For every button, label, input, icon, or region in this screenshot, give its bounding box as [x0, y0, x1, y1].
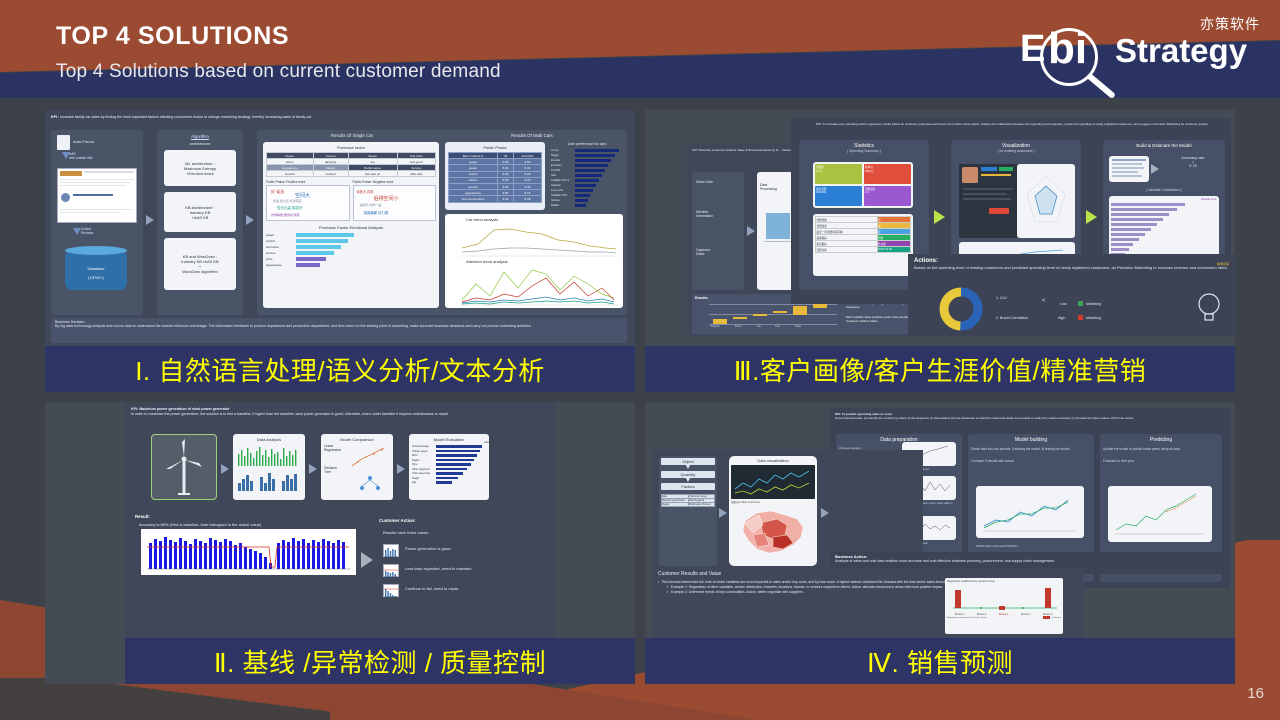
quadrant-panel-3[interactable]: KPI: Maximize Customer Lifetime Value & …: [645, 110, 1235, 392]
quadrant-2-content: KPI: Maximum power generation of wind po…: [45, 402, 635, 638]
q4-flow-3: Factors: [661, 483, 715, 490]
table-row: fuel consumption6.126.39: [449, 196, 542, 202]
q3-back-step-3: Captured Sales: [696, 248, 710, 256]
mini-chart-icon-2: [383, 564, 399, 577]
q1-emotional-title: Purchase Factor Emotional Analysis: [266, 225, 436, 230]
q2-model-comparison-card: Model Comparison Linear Regression Decis…: [321, 434, 393, 500]
q2-result-title: Result:: [135, 514, 545, 519]
emotional-bar-chart: power control tech drive service price a…: [266, 232, 436, 268]
quadrant-panel-4[interactable]: KPI: To predict upcoming sales or costs …: [645, 402, 1235, 684]
purchase-factor-table: PowerControlSpaceTest drive fiercedampin…: [266, 152, 436, 177]
q4-left-table: SaleCustomer Group Material region/brand…: [661, 494, 715, 507]
mini-chart-icon-1: [383, 544, 399, 557]
q3-step2-sub: ( for existing customers ): [951, 149, 1081, 153]
q2-result-block: Result: Accuracy is 86% (Red is baseline…: [133, 512, 547, 624]
q4-ba-text: Analysis of sales and cost data enables …: [835, 559, 1225, 563]
q2-kpi-text: In order to maximize the power generatio…: [131, 412, 449, 416]
quadrant-2-label: Ⅱ. 基线 /异常检测 / 质量控制: [125, 638, 635, 684]
q4-stage3-title: Predicting: [1103, 437, 1219, 443]
q2-kpi-prefix: KPI:: [131, 407, 138, 411]
arrow-down-icon-2: [73, 228, 81, 235]
q3-legend-1: 1. CLV: [996, 296, 1007, 300]
q1-db-size: (157W+): [65, 275, 127, 280]
arrow-right-icon-8: [821, 508, 829, 518]
q1-algo-item-3: KB and Word2vec : Industry KB+AAS KB + W…: [181, 254, 218, 274]
arrow-right-icon-6: [397, 464, 405, 474]
q4-s2-metric1: MAPE=(|Error/Actual|*100%)/N: [976, 544, 1018, 548]
q3-step3-sub: ( Variable Contribution ): [1103, 188, 1225, 192]
q1-algo-item-2: KB architecture : Industry KB +AAS KB: [185, 205, 215, 220]
q2-model-evaluation-card: Model Evaluation Annual average Turbine …: [409, 434, 489, 500]
q1-purchase-factor-title: Purchase factor: [266, 145, 436, 150]
logo-letters-bi: bi: [1048, 24, 1087, 74]
q4-reg-caption: Regression coefficients of Generic Group: [947, 617, 987, 619]
q1-multi-title: Results Of Multi Cars: [447, 133, 617, 138]
wordcloud-negative: 噪音大 异响 后排空间小 油耗高 内饰一般 减震偏硬 动力弱: [353, 185, 437, 221]
q1-emo-label-1: power: [266, 233, 274, 237]
forum-screenshot: [57, 168, 137, 223]
q2-action-2: Less than expected, need to maintain.: [405, 566, 473, 571]
q2-kpi-title: Maximum power generation of wind power g…: [139, 407, 229, 411]
q2-action-title: Customer Action:: [379, 518, 416, 523]
q4-s3-l1: Update the model to predict future years…: [1103, 447, 1219, 451]
trend-charts: Car trend analysis Attention trend analy…: [445, 214, 623, 308]
kpi-tile-2: 客单价2840元: [864, 164, 911, 184]
q3-legend-2: 2. Brand Correlation: [996, 316, 1028, 320]
q4-stage2-title: Model building: [971, 437, 1091, 443]
kpi-tile-4: 消费频次2.4: [864, 186, 911, 206]
lightbulb-icon: [1189, 288, 1229, 328]
q1-praise-neg-title: Public Praise: Negative word: [353, 180, 437, 184]
arrow-right-big-icon: [361, 552, 373, 568]
q4-dataviz-card: Data visualization 销量分布 Sales by Provinc…: [729, 456, 817, 566]
q1-db-name: Database: [65, 266, 127, 271]
arrow-right-icon-5: [309, 464, 317, 474]
q1-emo-label-5: price: [266, 257, 273, 261]
arrow-right-green-icon-1: [934, 210, 945, 224]
q4-cv-b3: Example 2: Determine trends of key commo…: [671, 590, 963, 595]
china-map: [731, 505, 815, 561]
q3-step3-title: Build & Estimate the Model: [1103, 143, 1225, 148]
quadrant-3-content: KPI: Maximize Customer Lifetime Value & …: [645, 110, 1235, 346]
q1-emo-label-4: service: [266, 251, 276, 255]
svg-text:Bucket 4: Bucket 4: [1021, 613, 1031, 616]
q4-reg-legend: coefficient: [1051, 617, 1061, 619]
car-trend-chart: [448, 222, 620, 258]
q4-kpi-text: Given historical data, (a) identify the …: [835, 416, 1134, 420]
public-praise-table: Benz Classic-SV8Audi A6L space6.656.80 p…: [448, 152, 542, 203]
table-row: smoothcomfortfast pick upafter sale: [267, 171, 436, 177]
q4-regression-chart: Regression coefficients by Generic Group…: [945, 578, 1063, 634]
q2-result-text: Accuracy is 86% (Red is baseline, blue h…: [139, 522, 545, 527]
q2-action-3: Continue to fall, need to repair.: [405, 586, 459, 591]
q2-action-1: Power generation is good.: [405, 546, 451, 551]
background-corner-bottom-left: [0, 678, 330, 720]
q1-algorithm-subheading: architecture: [157, 141, 243, 146]
kpi-tile-1: 消费额5.6万: [815, 164, 862, 184]
q2-data-analysis-card: Data Analysis: [233, 434, 305, 500]
q1-emo-label-2: control: [266, 239, 275, 243]
brand-logo: 亦策软件 E bi Strategy: [1012, 14, 1262, 80]
q4-cv-title: Customer Results and Value: [658, 571, 1078, 577]
quadrant-panel-2[interactable]: KPI: Maximum power generation of wind po…: [45, 402, 635, 684]
quadrant-4-label: Ⅳ. 销售预测: [645, 638, 1235, 684]
q3-actions-panel: Actions: Based on the spending level of …: [908, 254, 1235, 336]
logo-word-strategy: Strategy: [1115, 32, 1247, 70]
q1-preference-title: User preference for cars: [551, 142, 623, 146]
quadrant-4-content: KPI: To predict upcoming sales or costs …: [645, 402, 1235, 638]
table-row: RegionDistribution Channel: [662, 503, 715, 507]
q3-actions-title: Actions:: [914, 258, 1229, 264]
attention-trend-chart: [448, 264, 620, 306]
user-preference-chart: User preference for cars Cruze Regal Exc…: [551, 142, 623, 210]
q4-s2-l1: Divide data into two periods: i) trainin…: [971, 447, 1091, 451]
q2-step3-title: Model Evaluation: [412, 437, 486, 442]
arrow-right-icon-1: [146, 215, 154, 225]
q1-public-praise-title: Public Praise: [448, 145, 542, 150]
page-subtitle: Top 4 Solutions based on current custome…: [56, 61, 501, 83]
wind-turbine-icon: [151, 434, 217, 500]
dark-timeseries-panel: [731, 465, 815, 499]
q2-step1-title: Data Analysis: [236, 437, 302, 442]
q4-s2-compare: Compare Forecast with Actual: [971, 459, 1091, 463]
document-icon: [57, 135, 70, 150]
q1-kpi-text: Increase family car sales by finding the…: [60, 115, 312, 119]
svg-text:Bucket 3: Bucket 3: [999, 613, 1009, 616]
q2-eval-sub: Variable: [484, 441, 493, 444]
quadrant-panel-1[interactable]: KPI : Increase family car sales by findi…: [45, 110, 635, 392]
arrow-right-icon-4: [221, 464, 229, 474]
q1-praise-pos-title: Public Praise: Positive word: [266, 180, 350, 184]
slide-header: TOP 4 SOLUTIONS Top 4 Solutions based on…: [0, 0, 1280, 98]
baseline-histogram: [141, 529, 356, 575]
q2-action-sub: Results have three cases:: [383, 530, 429, 535]
quadrant-1-label: I. 自然语言处理/语义分析/文本分析: [45, 346, 635, 392]
q2-step2-title: Model Comparison: [324, 437, 390, 442]
q1-source-title: Auto Forum: [73, 139, 94, 144]
q3-summary-table: 消费金额高 消费频次中 最近一次消费时间间隔近 品类偏好母婴 渠道偏好移动端 活…: [815, 216, 911, 253]
arrow-right-gray-icon: [1151, 164, 1159, 174]
table-row: 活跃时段20:00-22:00: [816, 247, 911, 253]
q3-accuracy-label: Accuracy rate = 0.78: [1165, 156, 1221, 168]
q3-results-note2: Each variable value predicts a part of t…: [846, 316, 916, 324]
q3-actions-text: Based on the spending level of existing …: [914, 265, 1229, 270]
quadrant-1-content: KPI : Increase family car sales by findi…: [45, 110, 635, 346]
q1-collect-label: Collect Reviews: [81, 227, 93, 235]
q1-emo-label-6: appearance: [266, 263, 282, 267]
page-number: 16: [1247, 685, 1264, 702]
donut-chart: [938, 286, 984, 332]
page-title: TOP 4 SOLUTIONS: [56, 22, 289, 51]
q1-single-title: Results Of Single Car: [277, 133, 427, 138]
q4-dataviz-title: Data visualization: [731, 458, 815, 463]
q1-algorithm-heading: Algorithm: [157, 134, 243, 139]
q3-back-step-2: Member Information: [696, 210, 713, 218]
q4-s3-l2: Forecast for next year: [1103, 459, 1219, 463]
customer-profile-card: [959, 164, 1017, 238]
logo-chinese-text: 亦策软件: [1200, 14, 1260, 34]
q3-front-kpi: KPI: To increase user spending build a r…: [816, 122, 1235, 126]
mini-chart-icon-3: [383, 584, 399, 597]
q1-kpi-prefix: KPI :: [51, 115, 59, 119]
kpi-tile-3: 最近消费2016/5/8: [815, 186, 862, 206]
q3-back-step-1: Sales Data: [696, 180, 713, 184]
q1-business-decision: Business Decision : By big data technolo…: [51, 318, 627, 343]
q3-step1-sub: ( Spending Summary ): [799, 149, 929, 153]
radar-chart: [1017, 164, 1075, 238]
waterfall-chart: Extreme Brand Job Time Sales: [695, 301, 845, 329]
arrow-right-icon-3: [747, 226, 755, 236]
arrow-right-green-icon-2: [1086, 210, 1097, 224]
q1-crawler-label: AAS web crawler like: [69, 152, 92, 160]
q1-decision-text: By big data technology analysis Auto for…: [55, 324, 623, 329]
arrow-right-icon-2: [246, 215, 254, 225]
quadrant-3-label: Ⅲ.客户画像/客户生涯价值/精准营销: [645, 346, 1235, 392]
q1-emo-label-3: tech drive: [266, 245, 279, 249]
arrow-right-icon-7: [719, 508, 727, 518]
q1-algo-item-1: ML architecture : Maximum Entropy +Emoti…: [184, 161, 216, 176]
wordcloud-positive: 好 省油 空间大 舒适 动力足 外观漂亮 性价比高 操控好 内饰精致 服务好 隔…: [266, 185, 350, 221]
